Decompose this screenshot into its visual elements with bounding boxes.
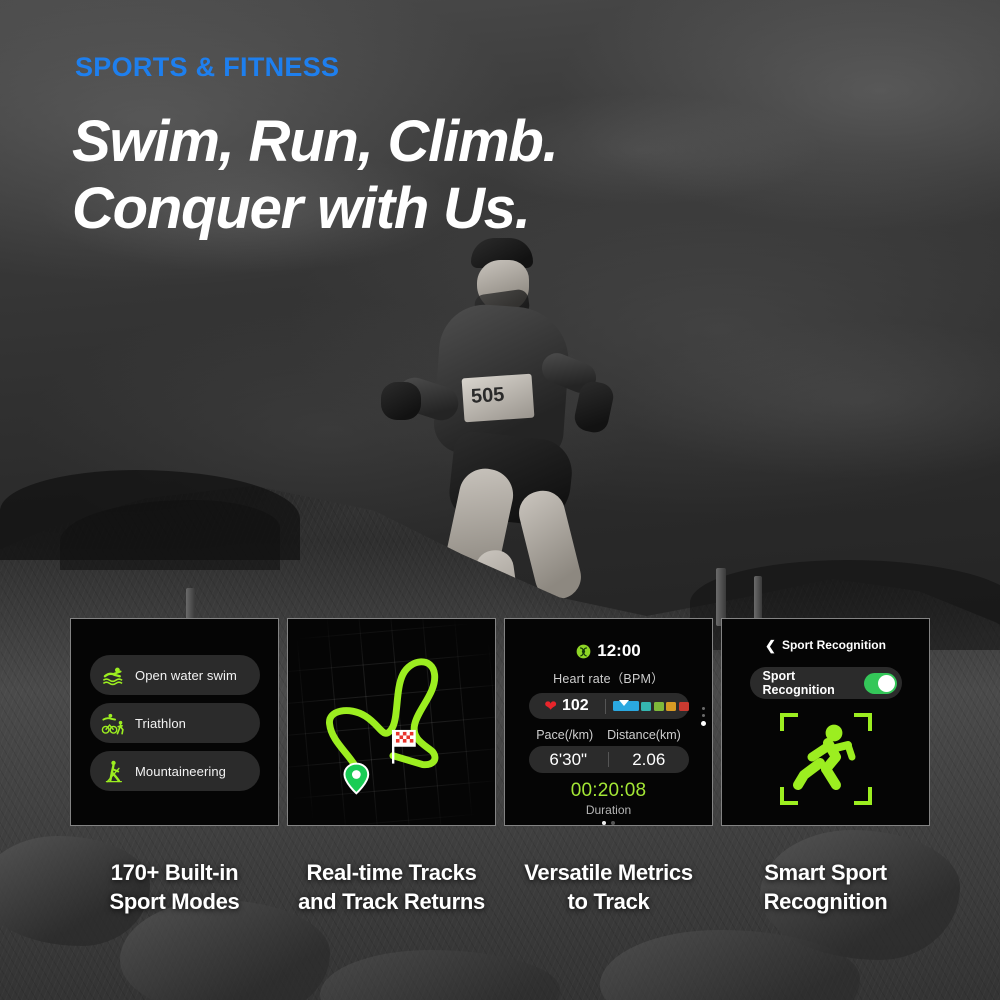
clock-value: 12:00 <box>597 641 640 661</box>
caption-line: Smart Sport <box>721 858 930 887</box>
caption-line: 170+ Built-in <box>70 858 279 887</box>
zone-segment <box>666 702 676 711</box>
headline-line-1: Swim, Run, Climb. <box>72 108 792 175</box>
screen-title: Sport Recognition <box>782 638 886 652</box>
heart-rate-value-group: ❤ 102 <box>529 697 605 715</box>
mountaineering-icon <box>101 759 126 784</box>
scroll-dot <box>702 714 705 717</box>
page-dot-active <box>602 821 606 825</box>
triathlon-icon <box>101 711 126 736</box>
sport-recognition-setting-row[interactable]: Sport Recognition <box>750 667 902 699</box>
caption-line: Versatile Metrics <box>504 858 713 887</box>
duration-label: Duration <box>586 803 631 817</box>
zone-segment <box>679 702 689 711</box>
status-row: 12:00 <box>576 641 640 661</box>
heart-icon: ❤ <box>544 699 557 714</box>
sport-recognition-toggle[interactable] <box>864 673 896 694</box>
heart-rate-zone-bar <box>606 701 689 711</box>
zone-segment <box>654 702 664 711</box>
caption-sport-modes: 170+ Built-inSport Modes <box>70 858 279 917</box>
open-water-swim-icon <box>101 663 126 688</box>
running-person-icon <box>792 723 860 795</box>
eyebrow-label: SPORTS & FITNESS <box>75 52 339 83</box>
sport-mode-label: Open water swim <box>135 668 237 683</box>
duration-value: 00:20:08 <box>571 780 647 802</box>
distance-value: 2.06 <box>609 750 689 770</box>
caption-line: and Track Returns <box>287 887 496 916</box>
caption-line: Recognition <box>721 887 930 916</box>
caption-real-time-tracks: Real-time Tracksand Track Returns <box>287 858 496 917</box>
caption-smart-recognition: Smart SportRecognition <box>721 858 930 917</box>
feature-card-row: Open water swim Triathlon <box>70 618 930 826</box>
route-track <box>288 619 495 825</box>
zone-marker-icon <box>619 700 629 706</box>
scroll-indicator[interactable] <box>701 707 706 726</box>
caption-line: to Track <box>504 887 713 916</box>
scroll-dot <box>702 707 705 710</box>
scroll-dot-active <box>701 721 706 726</box>
gps-signal-icon <box>576 644 591 659</box>
distance-label: Distance(km) <box>607 728 681 742</box>
pace-distance-row[interactable]: 6'30" 2.06 <box>529 746 689 773</box>
sport-mode-label: Triathlon <box>135 716 186 731</box>
caption-line: Real-time Tracks <box>287 858 496 887</box>
pace-value: 6'30" <box>529 750 609 770</box>
card-workout-metrics: 12:00 Heart rate（BPM） ❤ 102 Pace(/km) Di… <box>504 618 713 826</box>
headline-line-2: Conquer with Us. <box>72 175 792 242</box>
chevron-left-icon[interactable]: ❮ <box>765 639 776 652</box>
zone-segment <box>641 702 651 711</box>
caption-row: 170+ Built-inSport Modes Real-time Track… <box>70 858 930 917</box>
heart-rate-value: 102 <box>562 697 589 715</box>
page-indicator <box>602 821 615 825</box>
caption-versatile-metrics: Versatile Metricsto Track <box>504 858 713 917</box>
heart-rate-row[interactable]: ❤ 102 <box>529 693 689 719</box>
pace-distance-labels: Pace(/km) Distance(km) <box>536 728 681 742</box>
caption-line: Sport Modes <box>70 887 279 916</box>
heart-rate-label: Heart rate（BPM） <box>553 668 664 687</box>
recognition-frame <box>780 713 872 805</box>
card-sport-modes: Open water swim Triathlon <box>70 618 279 826</box>
sport-mode-mountaineering[interactable]: Mountaineering <box>90 751 260 791</box>
card-track-map <box>287 618 496 826</box>
sport-mode-label: Mountaineering <box>135 764 226 779</box>
pace-label: Pace(/km) <box>536 728 593 742</box>
card-sport-recognition: ❮ Sport Recognition Sport Recognition <box>721 618 930 826</box>
sport-mode-open-water-swim[interactable]: Open water swim <box>90 655 260 695</box>
screen-header: ❮ Sport Recognition <box>765 638 886 652</box>
page-dot <box>611 821 615 825</box>
sport-mode-list: Open water swim Triathlon <box>90 655 260 791</box>
location-pin-icon <box>344 764 368 794</box>
page-title: Swim, Run, Climb. Conquer with Us. <box>72 108 792 243</box>
setting-label: Sport Recognition <box>763 669 865 697</box>
sport-mode-triathlon[interactable]: Triathlon <box>90 703 260 743</box>
